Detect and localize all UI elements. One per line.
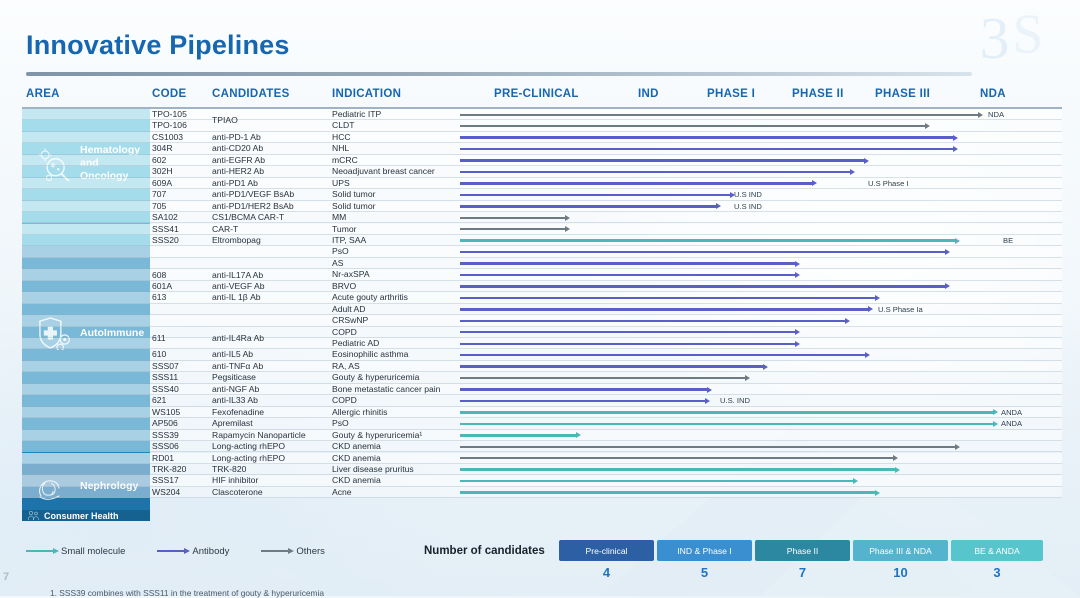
cell-indication: COPD — [332, 327, 357, 338]
bar-annotation: NDA — [988, 109, 1004, 120]
cell-code: SSS39 — [152, 430, 179, 441]
column-header-candidates: CANDIDATES — [212, 88, 290, 100]
table-row: SA102CS1/BCMA CAR-TMM — [22, 212, 1062, 223]
pipeline-bar-others — [460, 125, 925, 127]
cell-indication: NHL — [332, 143, 349, 154]
cell-candidate: anti-TNFα Ab — [212, 361, 263, 372]
arrow-head-icon — [893, 455, 898, 461]
table-row: TPO-105Pediatric ITPNDA — [22, 109, 1062, 120]
pipeline-bar-others — [460, 228, 565, 230]
column-header-code: CODE — [152, 88, 186, 100]
table-row: Nr-axSPA — [22, 269, 1062, 280]
legend-swatch — [261, 550, 289, 552]
arrow-head-icon — [795, 329, 800, 335]
pipeline-bar-antibody — [460, 182, 812, 184]
cell-code: 705 — [152, 201, 166, 212]
table-row: 601Aanti-VEGF AbBRVO — [22, 281, 1062, 292]
cell-candidate: CS1/BCMA CAR-T — [212, 212, 284, 223]
pipeline-bar-small-molecule — [460, 468, 895, 470]
pipeline-bar-others — [460, 446, 955, 448]
arrow-head-icon — [845, 318, 850, 324]
pipeline-bar-antibody — [460, 159, 864, 161]
cell-indication: Pediatric ITP — [332, 109, 381, 120]
arrow-head-icon — [993, 409, 998, 415]
cell-candidate: anti-CD20 Ab — [212, 143, 263, 154]
family-care-icon — [27, 510, 40, 521]
pipeline-bar-antibody — [460, 297, 875, 299]
table-row: 621anti-IL33 AbCOPDU.S. IND — [22, 395, 1062, 406]
cell-code: SSS40 — [152, 384, 179, 395]
cell-candidate: anti-PD1/VEGF BsAb — [212, 189, 294, 200]
column-header-phase-1: PHASE I — [707, 88, 755, 100]
legend-item-others: Others — [261, 546, 325, 557]
arrow-head-icon — [925, 123, 930, 129]
cell-code: 707 — [152, 189, 166, 200]
table-row: 610anti-IL5 AbEosinophilic asthma — [22, 349, 1062, 360]
pipeline-bar-antibody — [460, 205, 716, 207]
pipeline-bar-antibody — [460, 285, 945, 287]
arrow-head-icon — [955, 238, 960, 244]
pipeline-bar-small-molecule — [460, 434, 576, 436]
cell-indication: CLDT — [332, 120, 354, 131]
cell-candidate: Clascoterone — [212, 487, 263, 498]
table-row: TRK-820TRK-820Liver disease pruritus — [22, 464, 1062, 475]
cell-indication: UPS — [332, 178, 350, 189]
area-block-consumer-health: Consumer Health — [22, 510, 150, 521]
legend-label: Antibody — [192, 546, 229, 557]
cell-indication: CKD anemia — [332, 453, 381, 464]
table-row: 302Hanti-HER2 AbNeoadjuvant breast cance… — [22, 166, 1062, 177]
page-title: Innovative Pipelines — [26, 30, 290, 61]
table-row: CS1003anti-PD-1 AbHCC — [22, 132, 1062, 143]
pipeline-bar-small-molecule — [460, 423, 993, 425]
cell-indication: Liver disease pruritus — [332, 464, 414, 475]
legend: Small moleculeAntibodyOthers — [26, 540, 351, 562]
pipeline-bar-small-molecule — [460, 491, 875, 493]
pipeline-bar-small-molecule — [460, 411, 993, 413]
cell-code: WS105 — [152, 407, 180, 418]
arrow-head-icon — [745, 375, 750, 381]
cell-code: TPO-106 — [152, 120, 187, 131]
table-row: SSS40anti-NGF AbBone metastatic cancer p… — [22, 384, 1062, 395]
arrow-head-icon — [565, 215, 570, 221]
cell-code: SSS17 — [152, 475, 179, 486]
pipeline-bar-antibody — [460, 194, 730, 196]
table-row: WS204ClascoteroneAcne — [22, 487, 1062, 498]
arrow-head-icon — [978, 112, 983, 118]
pipeline-bar-others — [460, 217, 565, 219]
number-of-candidates-label: Number of candidates — [424, 540, 545, 562]
cell-indication: Adult AD — [332, 304, 365, 315]
arrow-head-icon — [812, 180, 817, 186]
column-header-ind: IND — [638, 88, 659, 100]
cell-candidate: Pegsiticase — [212, 372, 256, 383]
cell-indication: COPD — [332, 395, 357, 406]
summary-box-pre-clinical[interactable]: Pre-clinical — [559, 540, 654, 561]
summary-box-phase-iii-nda[interactable]: Phase III & NDA — [853, 540, 948, 561]
cell-indication: Allergic rhinitis — [332, 407, 387, 418]
column-header-indication: INDICATION — [332, 88, 401, 100]
cell-code: AP506 — [152, 418, 178, 429]
cell-code: 621 — [152, 395, 166, 406]
column-header-nda: NDA — [980, 88, 1006, 100]
cell-indication: Pediatric AD — [332, 338, 379, 349]
summary-count: 4 — [559, 563, 654, 581]
pipeline-bar-antibody — [460, 274, 795, 276]
pipeline-bar-antibody — [460, 400, 705, 402]
legend-swatch — [26, 550, 54, 552]
summary-box-ind-phase-i[interactable]: IND & Phase I — [657, 540, 752, 561]
pipeline-table: AREA CODE CANDIDATES INDICATION PRE-CLIN… — [22, 88, 1062, 524]
cell-code: 304R — [152, 143, 173, 154]
table-row: PsO — [22, 246, 1062, 257]
cell-indication: CKD anemia — [332, 475, 381, 486]
column-header-phase-2: PHASE II — [792, 88, 844, 100]
table-row: SSS11PegsiticaseGouty & hyperuricemia — [22, 372, 1062, 383]
pipeline-bar-antibody — [460, 148, 953, 150]
arrow-head-icon — [795, 272, 800, 278]
cell-code: 609A — [152, 178, 172, 189]
pipeline-bar-antibody — [460, 343, 795, 345]
cell-indication: Tumor — [332, 224, 357, 235]
table-row: WS105FexofenadineAllergic rhinitisANDA — [22, 407, 1062, 418]
summary-count: 5 — [657, 563, 752, 581]
arrow-head-icon — [795, 341, 800, 347]
arrow-head-icon — [895, 467, 900, 473]
pipeline-bar-antibody — [460, 308, 868, 310]
arrow-head-icon — [953, 146, 958, 152]
table-row: Pediatric AD — [22, 338, 1062, 349]
cell-code: SSS11 — [152, 372, 178, 383]
cell-indication: Nr-axSPA — [332, 269, 370, 280]
cell-candidate: anti-PD1/HER2 BsAb — [212, 201, 294, 212]
cell-code: 302H — [152, 166, 173, 177]
arrow-head-icon — [865, 352, 870, 358]
merged-cell-candidates: anti-IL4Ra Ab — [212, 315, 264, 361]
arrow-head-icon — [576, 432, 581, 438]
table-row: AP506ApremilastPsOANDA — [22, 418, 1062, 429]
cell-code: SSS07 — [152, 361, 179, 372]
arrow-head-icon — [53, 548, 59, 554]
cell-candidate: anti-IL33 Ab — [212, 395, 258, 406]
summary-count: 7 — [755, 563, 850, 581]
title-underline — [26, 72, 972, 76]
svg-text:S: S — [1012, 3, 1043, 65]
cell-indication: Neoadjuvant breast cancer — [332, 166, 435, 177]
cell-indication: HCC — [332, 132, 351, 143]
cell-indication: Bone metastatic cancer pain — [332, 384, 440, 395]
cell-indication: CKD anemia — [332, 441, 381, 452]
table-row: RD01Long-acting rhEPOCKD anemia — [22, 453, 1062, 464]
cell-candidate: HIF inhibitor — [212, 475, 258, 486]
bar-annotation: U.S IND — [734, 201, 762, 212]
cell-candidate: anti-PD1 Ab — [212, 178, 258, 189]
pipeline-bar-others — [460, 114, 978, 116]
summary-count: 3 — [951, 563, 1043, 581]
table-row: 304Ranti-CD20 AbNHL — [22, 143, 1062, 154]
cell-code: SA102 — [152, 212, 178, 223]
cell-indication: CRSwNP — [332, 315, 368, 326]
cell-candidate: TRK-820 — [212, 464, 246, 475]
cell-code: SSS20 — [152, 235, 179, 246]
arrow-head-icon — [875, 490, 880, 496]
cell-indication: MM — [332, 212, 346, 223]
pipeline-bar-antibody — [460, 365, 763, 367]
table-row: 613anti-IL 1β AbAcute gouty arthritis — [22, 292, 1062, 303]
pipeline-bar-antibody — [460, 354, 865, 356]
cell-indication: RA, AS — [332, 361, 360, 372]
pipeline-bar-antibody — [460, 136, 953, 138]
merged-cell-candidates: anti-IL17A Ab — [212, 258, 263, 292]
pipeline-bar-antibody — [460, 251, 945, 253]
table-row: SSS17HIF inhibitorCKD anemia — [22, 475, 1062, 486]
arrow-head-icon — [953, 135, 958, 141]
arrow-head-icon — [565, 226, 570, 232]
pipeline-bar-small-molecule — [460, 480, 853, 482]
svg-text:3: 3 — [980, 5, 1010, 71]
arrow-head-icon — [868, 306, 873, 312]
cell-code: 602 — [152, 155, 166, 166]
legend-item-small-molecule: Small molecule — [26, 546, 125, 557]
bar-annotation: ANDA — [1001, 418, 1022, 429]
legend-label: Small molecule — [61, 546, 125, 557]
pipeline-bar-others — [460, 457, 893, 459]
bar-annotation: ANDA — [1001, 407, 1022, 418]
summary-box-be-anda[interactable]: BE & ANDA — [951, 540, 1043, 561]
table-row: Adult ADU.S Phase Ia — [22, 304, 1062, 315]
arrow-head-icon — [288, 548, 294, 554]
cell-candidate: Fexofenadine — [212, 407, 264, 418]
cell-code: RD01 — [152, 453, 174, 464]
arrow-head-icon — [763, 364, 768, 370]
cell-code: SSS06 — [152, 441, 179, 452]
table-row: SSS06Long-acting rhEPOCKD anemia — [22, 441, 1062, 452]
bar-annotation: U.S Phase I — [868, 178, 909, 189]
legend-swatch — [157, 550, 185, 552]
table-row: 705anti-PD1/HER2 BsAbSolid tumorU.S IND — [22, 201, 1062, 212]
cell-indication: Gouty & hyperuricemia — [332, 372, 419, 383]
cell-code: 613 — [152, 292, 166, 303]
arrow-head-icon — [993, 421, 998, 427]
company-logo-icon: 3 S — [974, 2, 1070, 72]
bar-annotation: U.S. IND — [720, 395, 750, 406]
pipeline-bar-antibody — [460, 171, 850, 173]
arrow-head-icon — [850, 169, 855, 175]
table-row: 609Aanti-PD1 AbUPSU.S Phase I — [22, 178, 1062, 189]
arrow-head-icon — [955, 444, 960, 450]
pipeline-bar-antibody — [460, 320, 845, 322]
column-header-phase-3: PHASE III — [875, 88, 930, 100]
pipeline-grid: HematologyandOncologyAutoImmuneNephrolog… — [22, 109, 1062, 517]
cell-indication: BRVO — [332, 281, 356, 292]
cell-candidate: anti-EGFR Ab — [212, 155, 265, 166]
footnote: 1. SSS39 combines with SSS11 in the trea… — [50, 588, 324, 598]
arrow-head-icon — [945, 249, 950, 255]
arrow-head-icon — [184, 548, 190, 554]
cell-indication: mCRC — [332, 155, 358, 166]
legend-item-antibody: Antibody — [157, 546, 229, 557]
table-row: SSS39Rapamycin NanoparticleGouty & hyper… — [22, 430, 1062, 441]
cell-code: CS1003 — [152, 132, 183, 143]
pipeline-bar-small-molecule — [460, 239, 955, 241]
cell-candidate: CAR-T — [212, 224, 238, 235]
pipeline-bar-antibody — [460, 388, 707, 390]
cell-indication: PsO — [332, 246, 349, 257]
cell-candidate: anti-HER2 Ab — [212, 166, 264, 177]
arrow-head-icon — [705, 398, 710, 404]
cell-indication: Eosinophilic asthma — [332, 349, 408, 360]
column-header-pre-clinical: PRE-CLINICAL — [494, 88, 579, 100]
cell-indication: ITP, SAA — [332, 235, 366, 246]
cell-code: TPO-105 — [152, 109, 187, 120]
bar-annotation: BE — [1003, 235, 1013, 246]
table-row: SSS20EltrombopagITP, SAABE — [22, 235, 1062, 246]
arrow-head-icon — [707, 387, 712, 393]
arrow-head-icon — [945, 283, 950, 289]
cell-candidate: Long-acting rhEPO — [212, 453, 285, 464]
merged-cell-code: 608 — [152, 258, 166, 292]
slide-number: 7 — [3, 571, 9, 583]
arrow-head-icon — [795, 261, 800, 267]
cell-code: TRK-820 — [152, 464, 186, 475]
pipeline-bar-antibody — [460, 262, 795, 264]
summary-count: 10 — [853, 563, 948, 581]
legend-label: Others — [296, 546, 325, 557]
pipeline-bar-antibody — [460, 331, 795, 333]
cell-candidate: Rapamycin Nanoparticle — [212, 430, 306, 441]
cell-candidate: anti-IL 1β Ab — [212, 292, 261, 303]
merged-cell-code: 611 — [152, 315, 166, 361]
column-header-area: AREA — [26, 88, 60, 100]
table-row: SSS07anti-TNFα AbRA, AS — [22, 361, 1062, 372]
arrow-head-icon — [716, 203, 721, 209]
cell-indication: Acute gouty arthritis — [332, 292, 408, 303]
table-row: 602anti-EGFR AbmCRC — [22, 155, 1062, 166]
table-row: SSS41CAR-TTumor — [22, 224, 1062, 235]
cell-indication: PsO — [332, 418, 349, 429]
cell-indication: Solid tumor — [332, 189, 375, 200]
cell-indication: Acne — [332, 487, 352, 498]
cell-candidate: anti-NGF Ab — [212, 384, 259, 395]
bar-annotation: U.S Phase Ia — [878, 304, 923, 315]
pipeline-bar-others — [460, 377, 745, 379]
merged-cell-candidates: TPIAO — [212, 109, 238, 132]
table-row: COPD — [22, 327, 1062, 338]
cell-indication: Gouty & hyperuricemia¹ — [332, 430, 422, 441]
cell-candidate: anti-PD-1 Ab — [212, 132, 261, 143]
cell-candidate: Apremilast — [212, 418, 253, 429]
arrow-head-icon — [875, 295, 880, 301]
cell-candidate: Eltrombopag — [212, 235, 261, 246]
arrow-head-icon — [864, 158, 869, 164]
table-row: TPO-106CLDT — [22, 120, 1062, 131]
cell-code: WS204 — [152, 487, 180, 498]
table-row: CRSwNP — [22, 315, 1062, 326]
bar-annotation: U.S IND — [734, 189, 762, 200]
area-label: Consumer Health — [44, 510, 119, 521]
cell-indication: AS — [332, 258, 343, 269]
table-row: AS — [22, 258, 1062, 269]
cell-indication: Solid tumor — [332, 201, 375, 212]
cell-code: SSS41 — [152, 224, 179, 235]
arrow-head-icon — [853, 478, 858, 484]
table-row: 707anti-PD1/VEGF BsAbSolid tumorU.S IND — [22, 189, 1062, 200]
summary-box-phase-ii[interactable]: Phase II — [755, 540, 850, 561]
cell-candidate: Long-acting rhEPO — [212, 441, 285, 452]
